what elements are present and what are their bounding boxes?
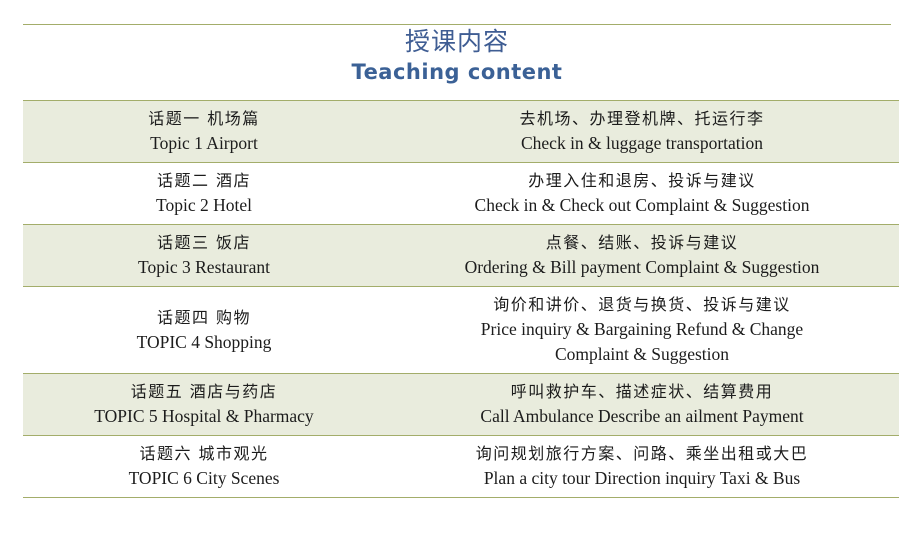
- topic-cell: 话题三 饭店 Topic 3 Restaurant: [23, 225, 385, 287]
- topic-chinese: 话题五 酒店与药店: [25, 379, 383, 404]
- detail-cell: 询价和讲价、退货与换货、投诉与建议 Price inquiry & Bargai…: [385, 287, 899, 374]
- detail-cell: 办理入住和退房、投诉与建议 Check in & Check out Compl…: [385, 163, 899, 225]
- detail-english-line-2: Complaint & Suggestion: [387, 342, 897, 367]
- detail-cell: 去机场、办理登机牌、托运行李 Check in & luggage transp…: [385, 101, 899, 163]
- detail-english-line-1: Plan a city tour Direction inquiry Taxi …: [387, 466, 897, 491]
- detail-cell: 点餐、结账、投诉与建议 Ordering & Bill payment Comp…: [385, 225, 899, 287]
- topic-chinese: 话题四 购物: [25, 305, 383, 330]
- topic-chinese: 话题三 饭店: [25, 230, 383, 255]
- topic-chinese: 话题六 城市观光: [25, 441, 383, 466]
- teaching-content-table: 话题一 机场篇 Topic 1 Airport 去机场、办理登机牌、托运行李 C…: [23, 100, 899, 498]
- table-body: 话题一 机场篇 Topic 1 Airport 去机场、办理登机牌、托运行李 C…: [23, 101, 899, 498]
- topic-english: Topic 3 Restaurant: [25, 255, 383, 280]
- page-title-chinese: 授课内容: [23, 26, 891, 58]
- topic-english: TOPIC 6 City Scenes: [25, 466, 383, 491]
- slide-title-block: 授课内容 Teaching content: [23, 26, 891, 86]
- table-row: 话题三 饭店 Topic 3 Restaurant 点餐、结账、投诉与建议 Or…: [23, 225, 899, 287]
- topic-chinese: 话题二 酒店: [25, 168, 383, 193]
- topic-cell: 话题一 机场篇 Topic 1 Airport: [23, 101, 385, 163]
- topic-cell: 话题六 城市观光 TOPIC 6 City Scenes: [23, 436, 385, 498]
- topic-english: Topic 1 Airport: [25, 131, 383, 156]
- detail-chinese: 询价和讲价、退货与换货、投诉与建议: [387, 292, 897, 317]
- slide-canvas: 授课内容 Teaching content 话题一 机场篇 Topic 1 Ai…: [0, 0, 921, 552]
- detail-english-line-1: Check in & luggage transportation: [387, 131, 897, 156]
- detail-cell: 询问规划旅行方案、问路、乘坐出租或大巴 Plan a city tour Dir…: [385, 436, 899, 498]
- topic-english: TOPIC 5 Hospital & Pharmacy: [25, 404, 383, 429]
- detail-chinese: 询问规划旅行方案、问路、乘坐出租或大巴: [387, 441, 897, 466]
- detail-english-line-1: Check in & Check out Complaint & Suggest…: [387, 193, 897, 218]
- topic-english: Topic 2 Hotel: [25, 193, 383, 218]
- topic-cell: 话题四 购物 TOPIC 4 Shopping: [23, 287, 385, 374]
- table-row: 话题四 购物 TOPIC 4 Shopping 询价和讲价、退货与换货、投诉与建…: [23, 287, 899, 374]
- detail-english-line-1: Price inquiry & Bargaining Refund & Chan…: [387, 317, 897, 342]
- detail-chinese: 去机场、办理登机牌、托运行李: [387, 106, 897, 131]
- topic-cell: 话题五 酒店与药店 TOPIC 5 Hospital & Pharmacy: [23, 374, 385, 436]
- detail-english-line-1: Call Ambulance Describe an ailment Payme…: [387, 404, 897, 429]
- detail-chinese: 办理入住和退房、投诉与建议: [387, 168, 897, 193]
- detail-chinese: 点餐、结账、投诉与建议: [387, 230, 897, 255]
- table-row: 话题六 城市观光 TOPIC 6 City Scenes 询问规划旅行方案、问路…: [23, 436, 899, 498]
- table-row: 话题一 机场篇 Topic 1 Airport 去机场、办理登机牌、托运行李 C…: [23, 101, 899, 163]
- detail-cell: 呼叫救护车、描述症状、结算费用 Call Ambulance Describe …: [385, 374, 899, 436]
- table-row: 话题二 酒店 Topic 2 Hotel 办理入住和退房、投诉与建议 Check…: [23, 163, 899, 225]
- title-top-divider: [23, 24, 891, 25]
- detail-chinese: 呼叫救护车、描述症状、结算费用: [387, 379, 897, 404]
- topic-chinese: 话题一 机场篇: [25, 106, 383, 131]
- detail-english-line-1: Ordering & Bill payment Complaint & Sugg…: [387, 255, 897, 280]
- topic-cell: 话题二 酒店 Topic 2 Hotel: [23, 163, 385, 225]
- table-row: 话题五 酒店与药店 TOPIC 5 Hospital & Pharmacy 呼叫…: [23, 374, 899, 436]
- page-title-english: Teaching content: [23, 58, 891, 86]
- topic-english: TOPIC 4 Shopping: [25, 330, 383, 355]
